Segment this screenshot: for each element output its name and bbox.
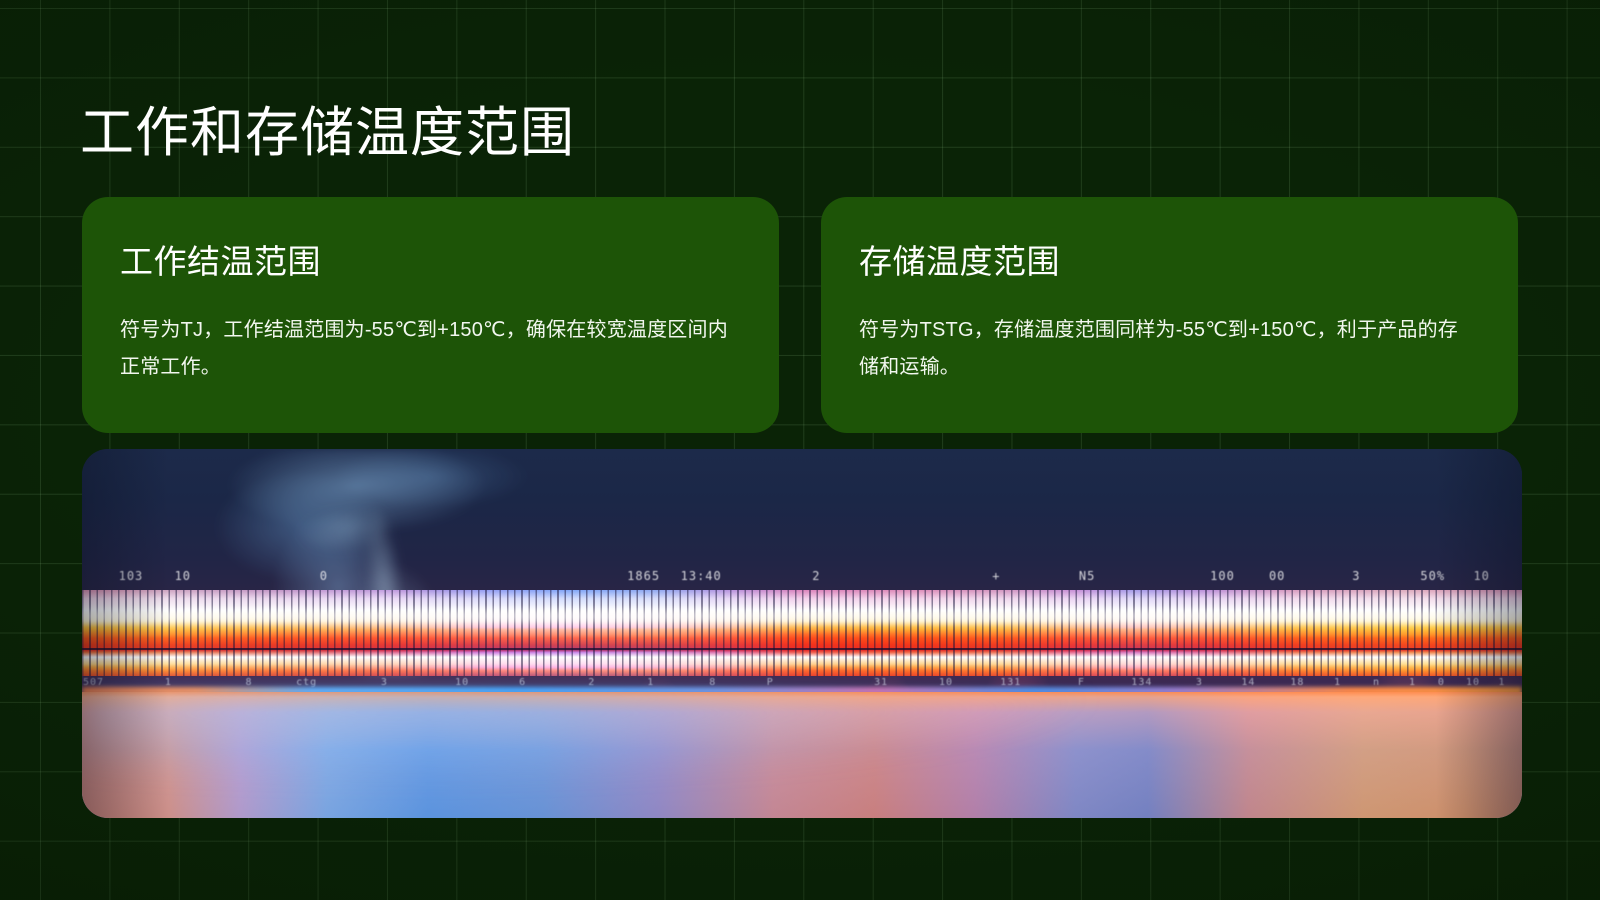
card-body: 符号为TSTG，存储温度范围同样为-55℃到+150℃，利于产品的存储和运输。 [859, 312, 1476, 386]
hero-reflection-bloom [82, 692, 1522, 818]
card-title: 工作结温范围 [120, 242, 737, 282]
page-title: 工作和存储温度范围 [80, 102, 575, 164]
card-operating-junction-temperature: 工作结温范围 符号为TJ，工作结温范围为-55℃到+150℃，确保在较宽温度区间… [82, 197, 779, 433]
card-list: 工作结温范围 符号为TJ，工作结温范围为-55℃到+150℃，确保在较宽温度区间… [82, 197, 1518, 433]
hero-thermal-scale-image: 103100186513:402+N510000350%10 50718ctg3… [82, 449, 1522, 818]
slide-root: 工作和存储温度范围 工作结温范围 符号为TJ，工作结温范围为-55℃到+150℃… [0, 0, 1600, 900]
card-body: 符号为TJ，工作结温范围为-55℃到+150℃，确保在较宽温度区间内正常工作。 [120, 312, 737, 386]
ruler-centre-line [82, 648, 1522, 650]
hero-smoke-wisp [215, 455, 554, 716]
card-storage-temperature: 存储温度范围 符号为TSTG，存储温度范围同样为-55℃到+150℃，利于产品的… [821, 197, 1518, 433]
ruler-tick-marks [82, 590, 1522, 676]
card-title: 存储温度范围 [859, 242, 1476, 282]
hero-ruler-band [82, 590, 1522, 676]
